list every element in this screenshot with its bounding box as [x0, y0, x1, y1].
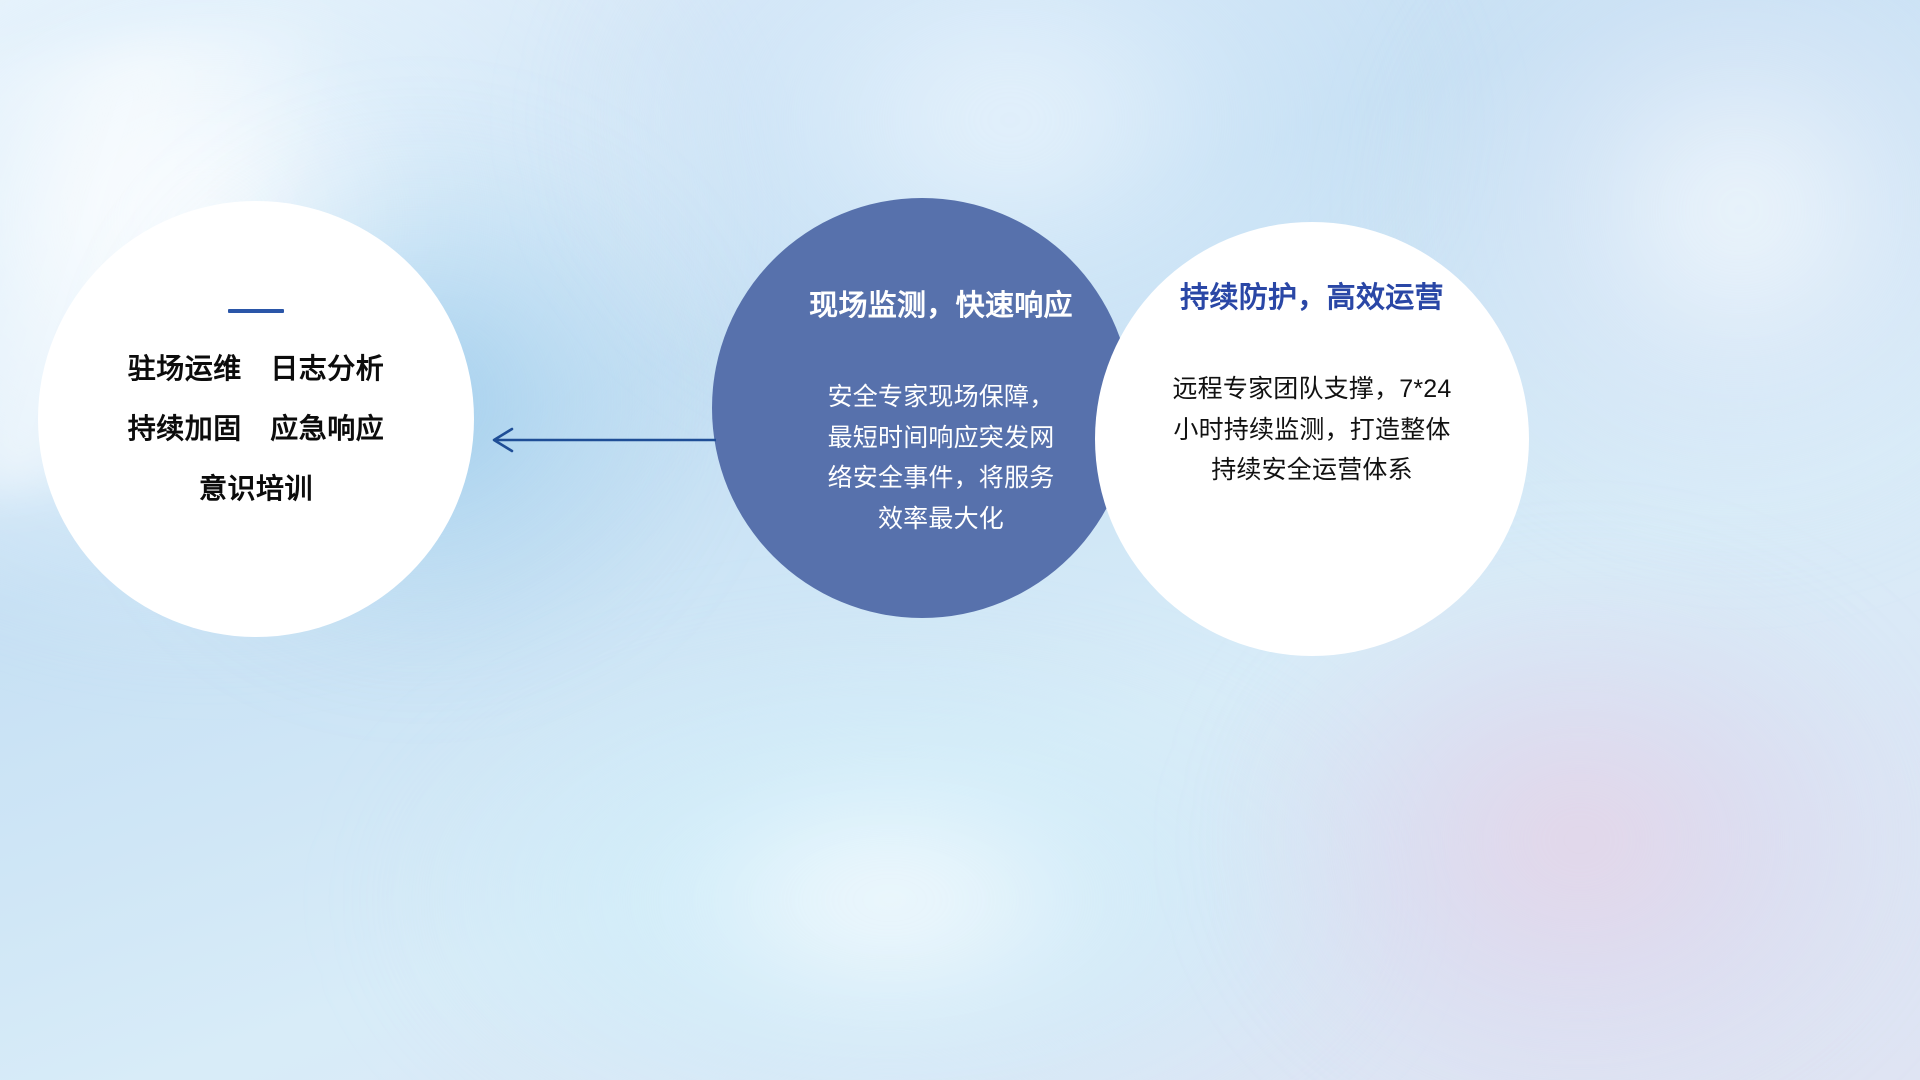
- right-circle-body: 远程专家团队支撑，7*24 小时持续监测，打造整体 持续安全运营体系: [1109, 369, 1515, 491]
- left-capability-line-1: 驻场运维 日志分析: [62, 355, 450, 383]
- right-operations-circle[interactable]: 持续防护，高效运营 远程专家团队支撑，7*24 小时持续监测，打造整体 持续安全…: [1095, 222, 1529, 656]
- right-body-line-2: 小时持续监测，打造整体: [1109, 410, 1515, 451]
- slide-canvas: 驻场运维 日志分析 持续加固 应急响应 意识培训 现场监测，快速响应 安全专家现…: [0, 0, 1920, 1080]
- left-arrow-icon: [480, 412, 720, 468]
- right-body-line-3: 持续安全运营体系: [1109, 450, 1515, 491]
- left-capability-circle[interactable]: 驻场运维 日志分析 持续加固 应急响应 意识培训: [38, 201, 474, 637]
- left-capability-line-3: 意识培训: [62, 475, 450, 503]
- right-body-line-1: 远程专家团队支撑，7*24: [1109, 369, 1515, 410]
- middle-circle-body: 安全专家现场保障， 最短时间响应突发网 络安全事件，将服务 效率最大化: [754, 377, 1128, 539]
- middle-circle-content: 现场监测，快速响应 安全专家现场保障， 最短时间响应突发网 络安全事件，将服务 …: [754, 290, 1128, 539]
- middle-body-line-1: 安全专家现场保障，: [754, 377, 1128, 418]
- left-circle-content: 驻场运维 日志分析 持续加固 应急响应 意识培训: [38, 309, 474, 503]
- middle-body-line-2: 最短时间响应突发网: [754, 418, 1128, 459]
- right-circle-content: 持续防护，高效运营 远程专家团队支撑，7*24 小时持续监测，打造整体 持续安全…: [1109, 282, 1515, 491]
- middle-body-line-4: 效率最大化: [754, 499, 1128, 540]
- right-circle-title: 持续防护，高效运营: [1109, 282, 1515, 315]
- middle-circle-title: 现场监测，快速响应: [754, 290, 1128, 323]
- divider-dash-icon: [228, 309, 284, 313]
- left-capability-line-2: 持续加固 应急响应: [62, 415, 450, 443]
- middle-onsite-circle[interactable]: 现场监测，快速响应 安全专家现场保障， 最短时间响应突发网 络安全事件，将服务 …: [712, 198, 1132, 618]
- middle-body-line-3: 络安全事件，将服务: [754, 458, 1128, 499]
